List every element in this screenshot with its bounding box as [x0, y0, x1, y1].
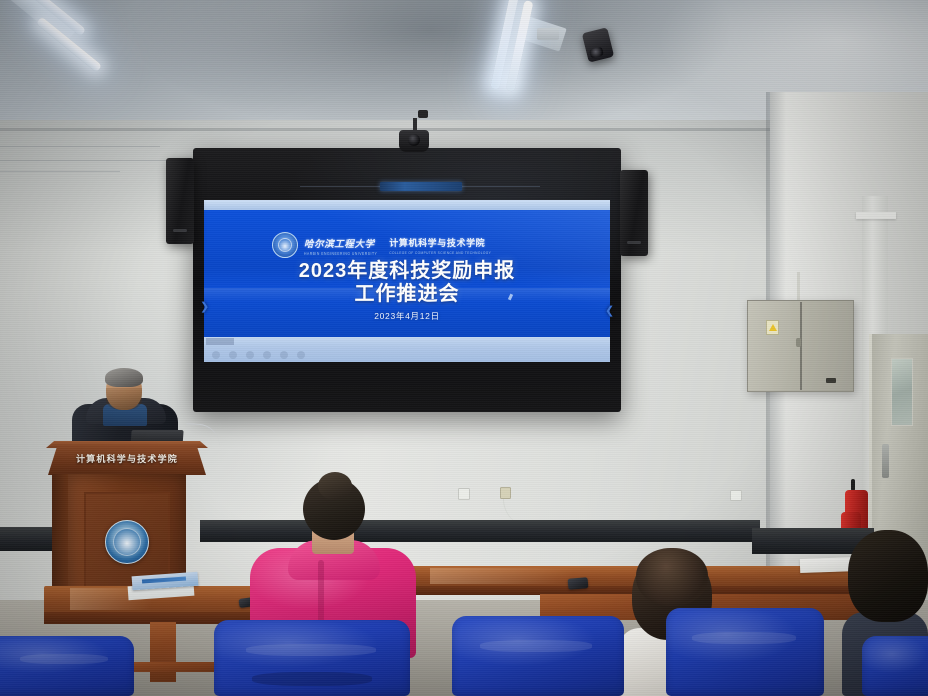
toolbar-icon-2[interactable]: [229, 351, 237, 359]
chair-cover-1-fold: [20, 654, 108, 664]
powerpoint-toolbar[interactable]: [212, 350, 412, 359]
conference-room-photo: 哈尔滨工程大学 HARBIN ENGINEERING UNIVERSITY 计算…: [0, 0, 928, 696]
toolbar-icon-5[interactable]: [280, 351, 288, 359]
slide-title: 2023年度科技奖励申报 工作推进会: [204, 260, 610, 306]
wall-crown-line: [0, 128, 790, 131]
chair-cover-5[interactable]: [862, 636, 928, 696]
college-name-en: COLLEGE OF COMPUTER SCIENCE AND TECHNOLO…: [389, 250, 491, 255]
electrical-hazard-warning-icon: [766, 320, 779, 335]
wall-switch-plate-2[interactable]: [730, 490, 742, 501]
attendee-white-top-curly-hair: [636, 548, 708, 606]
display-status-label: [380, 182, 462, 191]
powerpoint-title-bar: [204, 200, 610, 210]
slide-next-arrow-icon[interactable]: ❮: [605, 306, 614, 317]
university-name-en: HARBIN ENGINEERING UNIVERSITY: [304, 251, 377, 256]
chair-cover-3-fold: [480, 640, 592, 652]
door-window: [891, 358, 913, 426]
mobile-phone-2[interactable]: [568, 577, 589, 590]
college-name-block: 计算机科学与技术学院 COLLEGE OF COMPUTER SCIENCE A…: [389, 236, 491, 254]
wall-switch-plate[interactable]: [458, 488, 470, 500]
baseboard-center: [200, 520, 760, 542]
podium-label: 计算机科学与技术学院: [48, 452, 206, 465]
front-left-desk-leg: [150, 622, 176, 682]
chair-cover-2-shadow: [252, 672, 372, 686]
surveillance-camera-mount: [418, 110, 428, 118]
speaker-hair: [105, 368, 143, 387]
university-name-block: 哈尔滨工程大学 HARBIN ENGINEERING UNIVERSITY: [304, 236, 377, 255]
powerpoint-slide[interactable]: 哈尔滨工程大学 HARBIN ENGINEERING UNIVERSITY 计算…: [204, 210, 610, 337]
university-seal-icon: [272, 232, 298, 258]
door-handle[interactable]: [882, 444, 889, 478]
warning-triangle-icon: [769, 324, 777, 331]
cabinet-handle[interactable]: [796, 338, 801, 347]
wall-speaker-left: [166, 158, 194, 244]
right-wall-pillar-cap: [856, 212, 896, 219]
attendee-pink-hoodie-hair-bun: [318, 472, 352, 500]
powerpoint-status-tab[interactable]: [206, 338, 234, 345]
wall-power-outlet[interactable]: [500, 487, 511, 499]
toolbar-icon-3[interactable]: [246, 351, 254, 359]
chair-cover-3[interactable]: [452, 616, 624, 696]
college-name-cn: 计算机科学与技术学院: [389, 236, 491, 249]
slide-header: 哈尔滨工程大学 HARBIN ENGINEERING UNIVERSITY 计算…: [272, 230, 572, 260]
attendee-right-head: [848, 530, 928, 622]
chair-cover-4[interactable]: [666, 608, 824, 696]
slide-title-line-2: 工作推进会: [204, 283, 610, 306]
cabinet-nameplate: [826, 378, 836, 383]
wall-seam-3: [0, 171, 120, 172]
university-emblem-icon: [105, 520, 149, 564]
ptz-camera-lens: [408, 134, 420, 146]
slide-title-line-1: 2023年度科技奖励申报: [204, 260, 610, 283]
university-name-cn: 哈尔滨工程大学: [304, 236, 377, 250]
slide-prev-arrow-icon[interactable]: ❯: [200, 302, 209, 313]
toolbar-icon-4[interactable]: [263, 351, 271, 359]
powerpoint-window[interactable]: 哈尔滨工程大学 HARBIN ENGINEERING UNIVERSITY 计算…: [204, 200, 610, 362]
toolbar-icon-6[interactable]: [297, 351, 305, 359]
chair-cover-2-fold: [246, 644, 376, 656]
wall-seam-1: [0, 146, 160, 147]
chair-cover-1[interactable]: [0, 636, 134, 696]
wall-speaker-right: [620, 170, 648, 256]
toolbar-icon-1[interactable]: [212, 351, 220, 359]
ceiling-tube-light-2-endcap: [537, 28, 559, 40]
cabinet-conduit: [797, 272, 800, 302]
slide-date: 2023年4月12日: [204, 310, 610, 322]
speaker-face-shading: [106, 388, 142, 410]
wall-seam-2: [0, 160, 190, 161]
chair-cover-4-fold: [692, 632, 796, 644]
